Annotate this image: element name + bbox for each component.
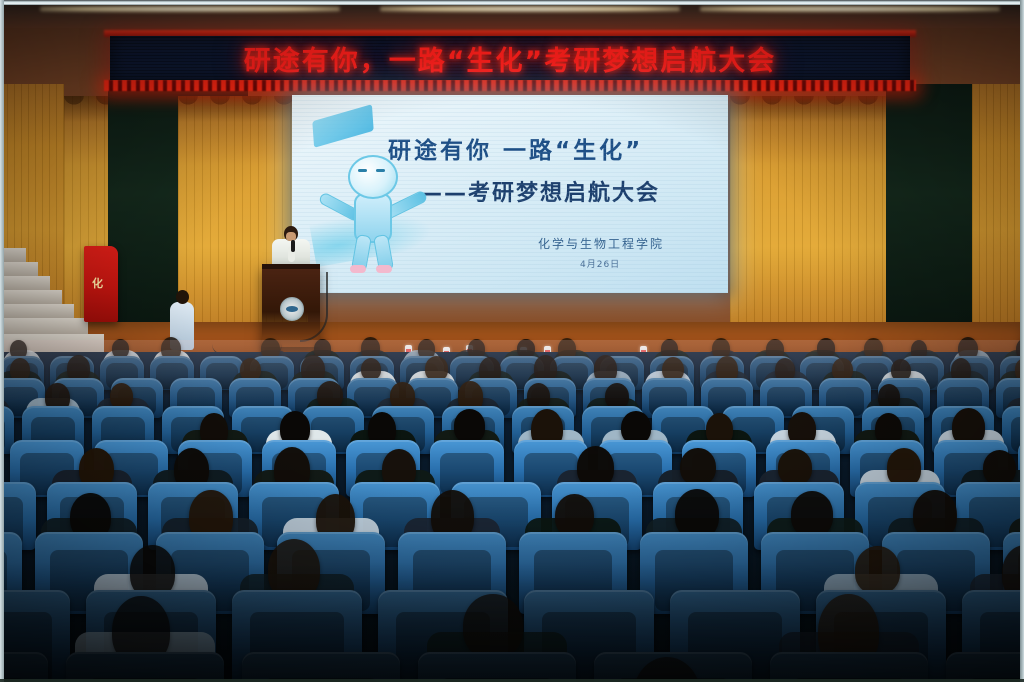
audience-member-head	[317, 381, 343, 409]
slide-mascot-icon	[306, 109, 436, 279]
mascot-head	[348, 155, 398, 199]
mascot-eye-right	[376, 169, 385, 172]
stair-step	[0, 248, 26, 262]
slide-date: 4月26日	[580, 257, 620, 270]
graduation-cap-icon	[312, 104, 373, 148]
audience-member-head	[680, 448, 715, 486]
audience-seating-area	[0, 352, 1024, 682]
audience-member-head	[983, 450, 1016, 486]
slide-subtitle: ——考研梦想启航大会	[420, 175, 720, 207]
microphone-icon	[291, 240, 295, 252]
mascot-foot-right	[376, 265, 392, 273]
auditorium-photo: 研途有你，一路“生化”考研梦想启航大会 研途有你 一路“生化” ——考研梦想启航…	[0, 0, 1024, 682]
slide-organization: 化学与生物工程学院	[538, 235, 664, 252]
stair-step	[0, 304, 74, 318]
auditorium-seat	[242, 652, 400, 682]
stair-step	[0, 276, 50, 290]
rollup-banner-mark: 化	[92, 278, 108, 292]
podium	[262, 264, 320, 347]
university-crest-icon	[280, 297, 304, 321]
led-banner-text: 研途有你，一路“生化”考研梦想启航大会	[244, 39, 777, 78]
auditorium-seat	[946, 652, 1024, 682]
audience-member-head	[817, 338, 835, 357]
audience-member-head	[855, 546, 900, 594]
auditorium-seat	[0, 652, 48, 682]
audience-member-head	[887, 448, 922, 486]
audience-member-head	[463, 594, 522, 657]
audience-member-head	[791, 491, 833, 536]
audience-member-head	[454, 409, 486, 442]
wall-panel-wood-center-right	[730, 96, 886, 328]
audience-member-head	[555, 494, 593, 537]
wall-panel-wood-right-edge	[972, 84, 1024, 328]
attendant-head	[176, 290, 189, 304]
ceiling-light-strip	[700, 6, 1000, 12]
panel-scallop	[730, 96, 886, 122]
stair-step	[0, 262, 38, 276]
ceiling-light-strip	[380, 6, 680, 12]
projection-screen: 研途有你 一路“生化” ——考研梦想启航大会 化学与生物工程学院 4月26日	[292, 95, 728, 293]
slide-title: 研途有你 一路“生化”	[388, 131, 718, 165]
panel-scallop	[64, 96, 108, 122]
stage-curtain-right	[886, 84, 982, 328]
stair-step	[0, 290, 62, 304]
ceiling-light-strip	[40, 6, 340, 12]
auditorium-seat	[770, 652, 928, 682]
mascot-eye-left	[358, 169, 367, 172]
mascot-foot-left	[350, 265, 366, 273]
led-banner: 研途有你，一路“生化”考研梦想启航大会	[110, 36, 910, 80]
auditorium-seat	[418, 652, 576, 682]
stair-step	[0, 318, 88, 334]
audience-member-head	[778, 449, 812, 485]
audience-member-head	[517, 339, 535, 358]
led-banner-glow-strip	[104, 80, 916, 91]
auditorium-seat	[66, 652, 224, 682]
rollup-banner: 化	[84, 246, 118, 322]
